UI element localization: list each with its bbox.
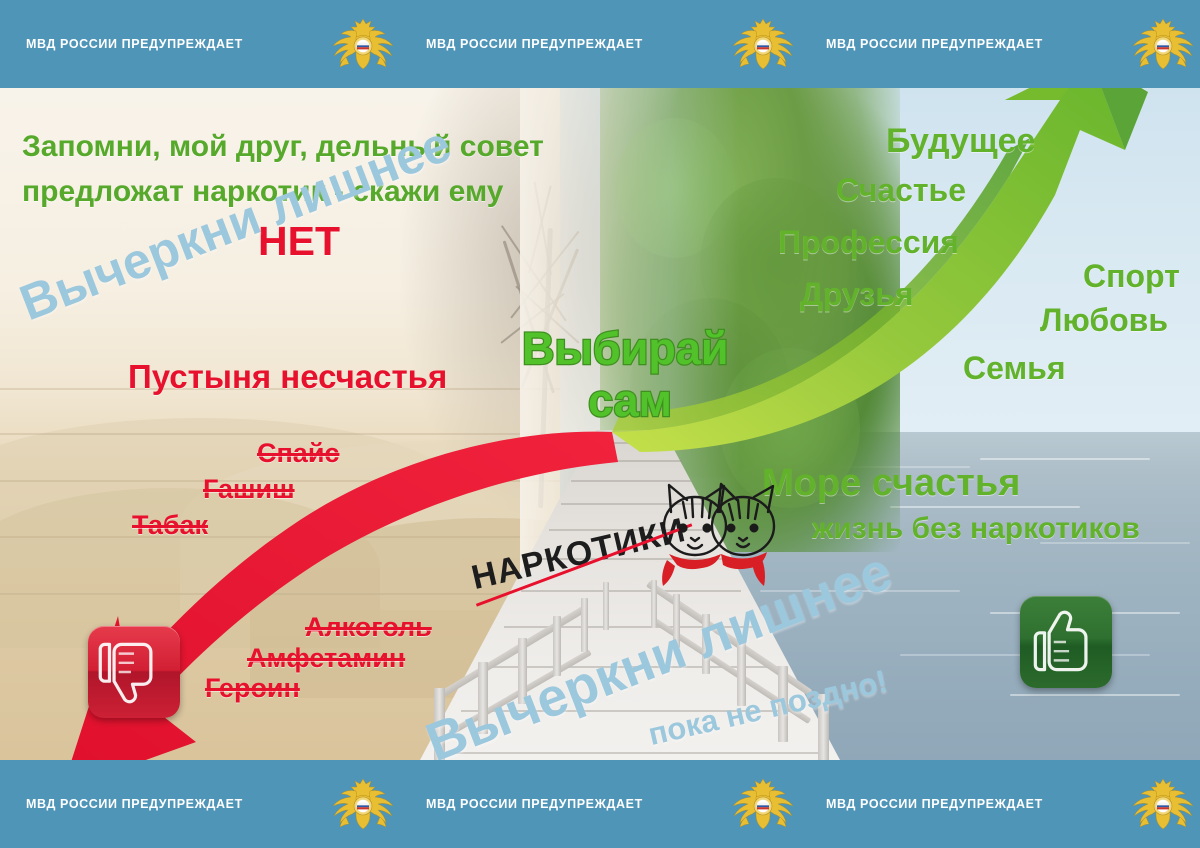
drug-item-3: Алкоголь xyxy=(305,612,432,643)
mvd-double-headed-eagle-emblem xyxy=(326,773,400,835)
good-item-0: Будущее xyxy=(886,122,1035,161)
banner-text: МВД РОССИИ ПРЕДУПРЕЖДАЕТ xyxy=(26,797,243,811)
mvd-double-headed-eagle-emblem xyxy=(326,13,400,75)
choose-line-1: Выбирай xyxy=(522,328,729,371)
mvd-double-headed-eagle-emblem xyxy=(726,13,800,75)
good-item-1: Счастье xyxy=(836,172,966,209)
banner-cell: МВД РОССИИ ПРЕДУПРЕЖДАЕТ xyxy=(0,773,400,835)
banner-cell: МВД РОССИИ ПРЕДУПРЕЖДАЕТ xyxy=(800,773,1200,835)
drug-item-2: Табак xyxy=(132,510,208,541)
choose-line-2: сам xyxy=(588,380,672,423)
bottom-banner: МВД РОССИИ ПРЕДУПРЕЖДАЕТ МВД РОССИИ ПРЕД… xyxy=(0,760,1200,848)
drug-item-0: Спайс xyxy=(257,438,339,469)
thumbs-up-icon xyxy=(1020,596,1112,688)
good-item-6: Семья xyxy=(963,350,1066,387)
sea-title: Море счастья xyxy=(762,462,1020,505)
good-item-3: Друзья xyxy=(800,276,914,313)
banner-cell: МВД РОССИИ ПРЕДУПРЕЖДАЕТ xyxy=(400,13,800,75)
banner-text: МВД РОССИИ ПРЕДУПРЕЖДАЕТ xyxy=(426,37,643,51)
mvd-double-headed-eagle-emblem xyxy=(1126,13,1200,75)
poster-canvas: Запомни, мой друг, дельный совет предлож… xyxy=(0,0,1200,848)
thumbs-down-icon xyxy=(88,626,180,718)
sea-subtitle: жизнь без наркотиков xyxy=(812,512,1140,546)
banner-cell: МВД РОССИИ ПРЕДУПРЕЖДАЕТ xyxy=(0,13,400,75)
drug-item-4: Амфетамин xyxy=(247,643,405,674)
banner-text: МВД РОССИИ ПРЕДУПРЕЖДАЕТ xyxy=(826,797,1043,811)
banner-text: МВД РОССИИ ПРЕДУПРЕЖДАЕТ xyxy=(826,37,1043,51)
banner-text: МВД РОССИИ ПРЕДУПРЕЖДАЕТ xyxy=(426,797,643,811)
mvd-double-headed-eagle-emblem xyxy=(1126,773,1200,835)
good-item-5: Любовь xyxy=(1040,302,1168,339)
thumbs-down-button[interactable] xyxy=(88,626,180,718)
top-banner: МВД РОССИИ ПРЕДУПРЕЖДАЕТ МВД РОССИИ ПРЕД… xyxy=(0,0,1200,88)
banner-text: МВД РОССИИ ПРЕДУПРЕЖДАЕТ xyxy=(26,37,243,51)
desert-title: Пустыня несчастья xyxy=(128,358,447,396)
drug-item-1: Гашиш xyxy=(203,474,295,505)
good-item-2: Профессия xyxy=(778,224,959,261)
banner-cell: МВД РОССИИ ПРЕДУПРЕЖДАЕТ xyxy=(400,773,800,835)
good-item-4: Спорт xyxy=(1083,258,1180,295)
banner-cell: МВД РОССИИ ПРЕДУПРЕЖДАЕТ xyxy=(800,13,1200,75)
headline-line-1: Запомни, мой друг, дельный совет xyxy=(22,130,544,164)
cats-mascot-icon xyxy=(625,468,790,593)
drug-item-5: Героин xyxy=(205,673,300,704)
thumbs-up-button[interactable] xyxy=(1020,596,1112,688)
mvd-double-headed-eagle-emblem xyxy=(726,773,800,835)
